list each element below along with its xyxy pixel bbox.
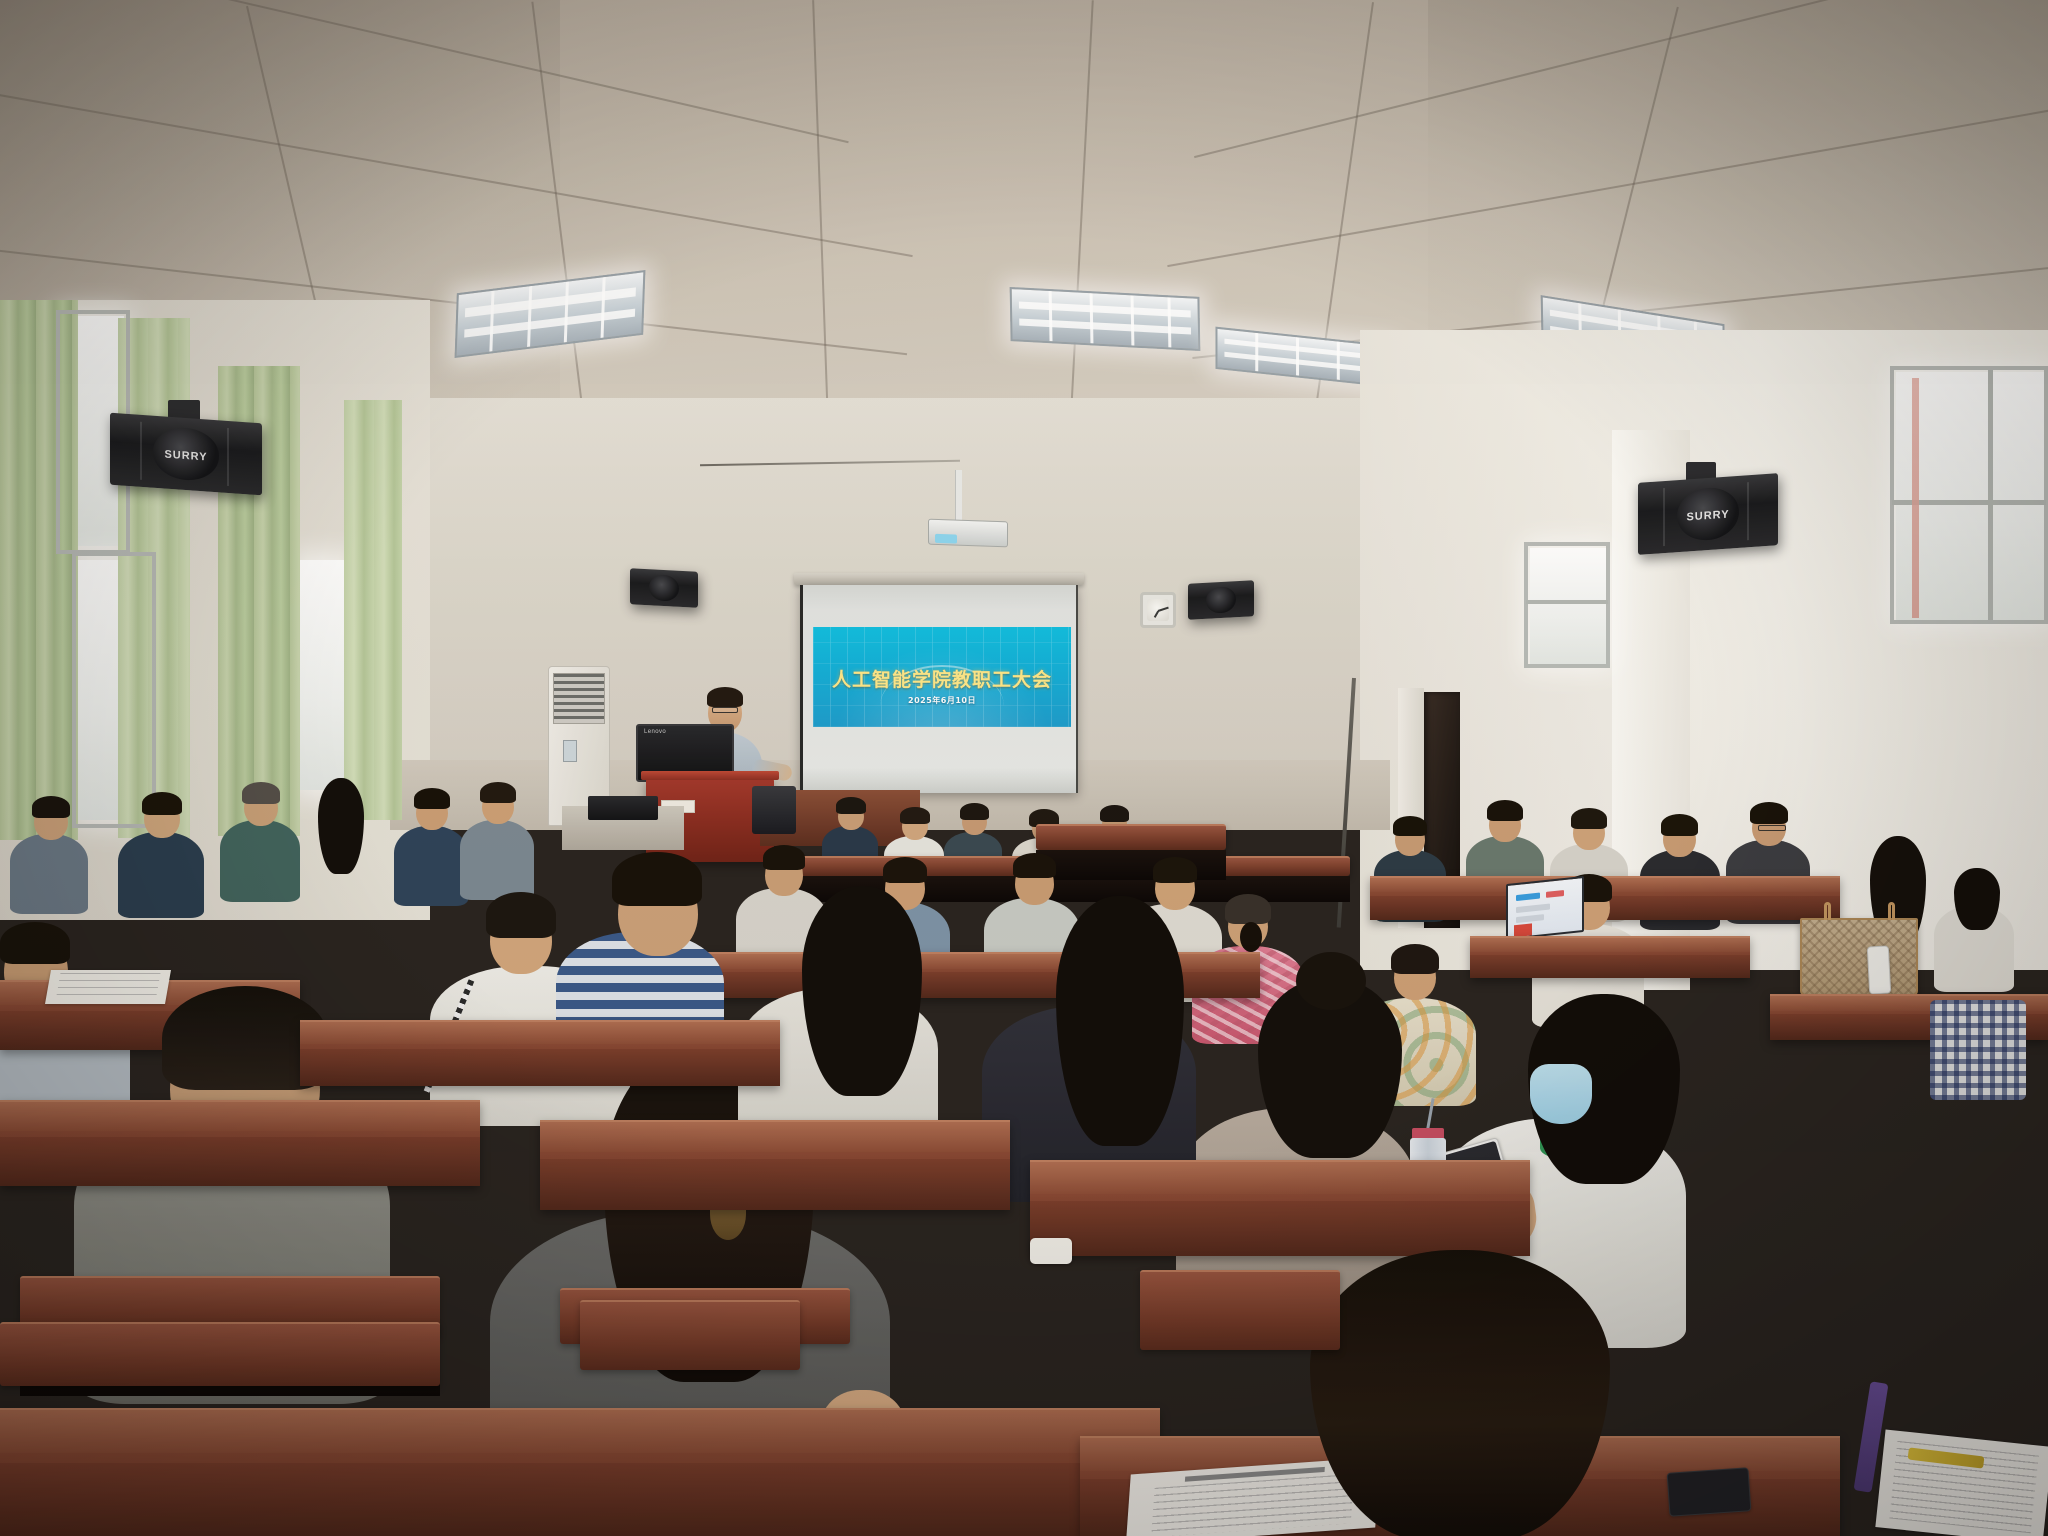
window-left-near [300, 560, 346, 790]
window-frame-left-2 [72, 552, 156, 828]
laptop-ui-element-2 [1546, 890, 1564, 898]
window-mullion-right-lower [1526, 600, 1608, 604]
desk-row-4-right [1030, 1160, 1530, 1256]
desk-foreground-bottom [0, 1408, 1160, 1536]
tissue-on-desk [1030, 1238, 1072, 1264]
wall-speaker-right: SURRY [1638, 473, 1778, 555]
speaker-cone [1206, 586, 1235, 613]
hair-bun [1296, 952, 1366, 1010]
front-right-chair [752, 786, 796, 834]
slide-date-text: 2025年6月10日 [813, 695, 1071, 706]
window-right-exterior-stripe [1912, 378, 1919, 618]
long-hair-bottom [1310, 1250, 1610, 1536]
wall-clock [1140, 592, 1176, 628]
monitor-brand-label: Lenovo [644, 729, 666, 735]
desk-row-3 [300, 1020, 780, 1086]
bench-foreground-left [0, 1322, 440, 1386]
ceiling-mounted-projector [928, 519, 1008, 548]
projector-pole [955, 470, 962, 520]
laptop-screen[interactable] [1506, 876, 1584, 940]
bench-gap-right-far [1036, 850, 1226, 880]
face-mask [1530, 1064, 1592, 1124]
laptop-ui-element-4 [1516, 914, 1544, 923]
slide-title-text: 人工智能学院教职工大会 [813, 665, 1071, 692]
presenter-hair [707, 687, 743, 707]
bench-foreground-right [1140, 1270, 1340, 1350]
window-mullion-right-v [1988, 370, 1993, 620]
tote-handle-left [1824, 902, 1831, 920]
window-frame-right-lower [1524, 542, 1610, 668]
projected-slide: 人工智能学院教职工大会 2025年6月10日 [813, 627, 1071, 727]
ponytail [1240, 922, 1262, 952]
speaker-cone [649, 574, 679, 601]
presenter-glasses [712, 707, 738, 713]
av-equipment-cluster [588, 796, 658, 820]
projection-screen-surface: 人工智能学院教职工大会 2025年6月10日 [800, 585, 1078, 793]
ac-vent-louvers [553, 673, 606, 724]
desk-right-laptop [1470, 936, 1750, 978]
document-bottom-right[interactable] [1875, 1429, 2048, 1536]
desk-row-4-center [540, 1120, 1010, 1210]
bench-right-far [1036, 824, 1226, 850]
laptop-ui-element-1 [1516, 893, 1540, 902]
ac-control-panel [563, 740, 576, 762]
wall-speaker-front-left [630, 568, 698, 608]
tote-bag[interactable] [1800, 918, 1918, 996]
podium-top-edge [641, 771, 779, 780]
desk-row-4-left [0, 1100, 480, 1186]
projection-screen-assembly: 人工智能学院教职工大会 2025年6月10日 [800, 583, 1078, 795]
tote-handle-right [1888, 902, 1895, 920]
clock-face [1147, 599, 1169, 621]
plaid-garment [1930, 1000, 2026, 1100]
bench-foreground-center [580, 1300, 800, 1370]
screen-roller-housing [794, 573, 1084, 585]
curtain-left-4 [344, 400, 402, 820]
attendee-glasses [1758, 825, 1786, 831]
ceiling-light-2 [1010, 287, 1201, 351]
wall-speaker-front-right [1188, 580, 1254, 619]
wall-speaker-left: SURRY [110, 413, 262, 496]
phone-on-desk[interactable] [1867, 945, 1891, 994]
lecture-hall-photo: SURRY SURRY 人工智能学院教职工大会 [0, 0, 2048, 1536]
clock-hand-hour [1153, 611, 1159, 618]
laptop-ui-element-3 [1516, 903, 1550, 913]
phone-on-bottom-desk[interactable] [1667, 1467, 1752, 1517]
projector-lens [935, 534, 957, 544]
notebook-left[interactable] [45, 970, 171, 1004]
